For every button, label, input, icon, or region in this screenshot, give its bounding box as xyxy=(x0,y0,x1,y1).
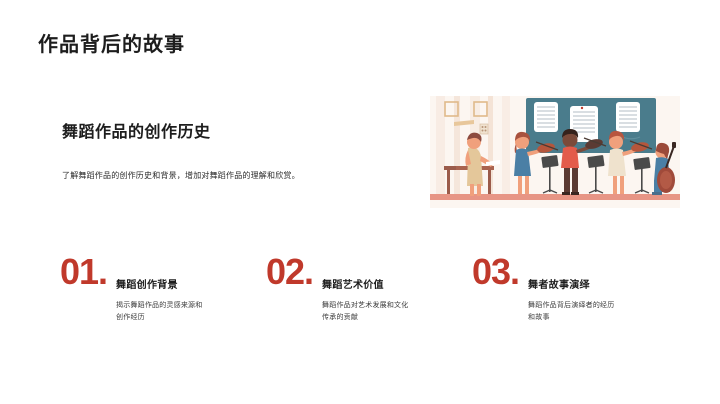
slide-canvas: 作品背后的故事 舞蹈作品的创作历史 了解舞蹈作品的创作历史和背景，增加对舞蹈作品… xyxy=(0,0,720,404)
feature-number-3: 03. xyxy=(472,252,519,290)
feature-number-2: 02. xyxy=(266,252,313,290)
illustration-svg xyxy=(430,96,680,208)
feature-item-1: 01. 舞蹈创作背景 揭示舞蹈作品的灵感来源和创作经历 xyxy=(60,252,266,323)
feature-description-3: 舞蹈作品背后演绎者的经历和故事 xyxy=(528,300,620,323)
intro-block: 舞蹈作品的创作历史 了解舞蹈作品的创作历史和背景，增加对舞蹈作品的理解和欣赏。 xyxy=(62,118,392,182)
intro-heading: 舞蹈作品的创作历史 xyxy=(62,118,392,142)
feature-number-1: 01. xyxy=(60,252,107,290)
music-classroom-illustration xyxy=(430,96,680,208)
intro-body-text: 了解舞蹈作品的创作历史和背景，增加对舞蹈作品的理解和欣赏。 xyxy=(62,170,392,182)
page-title: 作品背后的故事 xyxy=(38,28,185,57)
feature-text-2: 舞蹈艺术价值 舞蹈作品对艺术发展和文化传承的贡献 xyxy=(313,252,414,323)
feature-list: 01. 舞蹈创作背景 揭示舞蹈作品的灵感来源和创作经历 02. 舞蹈艺术价值 舞… xyxy=(60,252,680,323)
feature-text-3: 舞者故事演绎 舞蹈作品背后演绎者的经历和故事 xyxy=(519,252,620,323)
feature-title-2: 舞蹈艺术价值 xyxy=(322,276,414,291)
feature-title-1: 舞蹈创作背景 xyxy=(116,276,208,291)
feature-item-3: 03. 舞者故事演绎 舞蹈作品背后演绎者的经历和故事 xyxy=(472,252,678,323)
feature-title-3: 舞者故事演绎 xyxy=(528,276,620,291)
feature-description-1: 揭示舞蹈作品的灵感来源和创作经历 xyxy=(116,300,208,323)
feature-description-2: 舞蹈作品对艺术发展和文化传承的贡献 xyxy=(322,300,414,323)
feature-item-2: 02. 舞蹈艺术价值 舞蹈作品对艺术发展和文化传承的贡献 xyxy=(266,252,472,323)
feature-text-1: 舞蹈创作背景 揭示舞蹈作品的灵感来源和创作经历 xyxy=(107,252,208,323)
